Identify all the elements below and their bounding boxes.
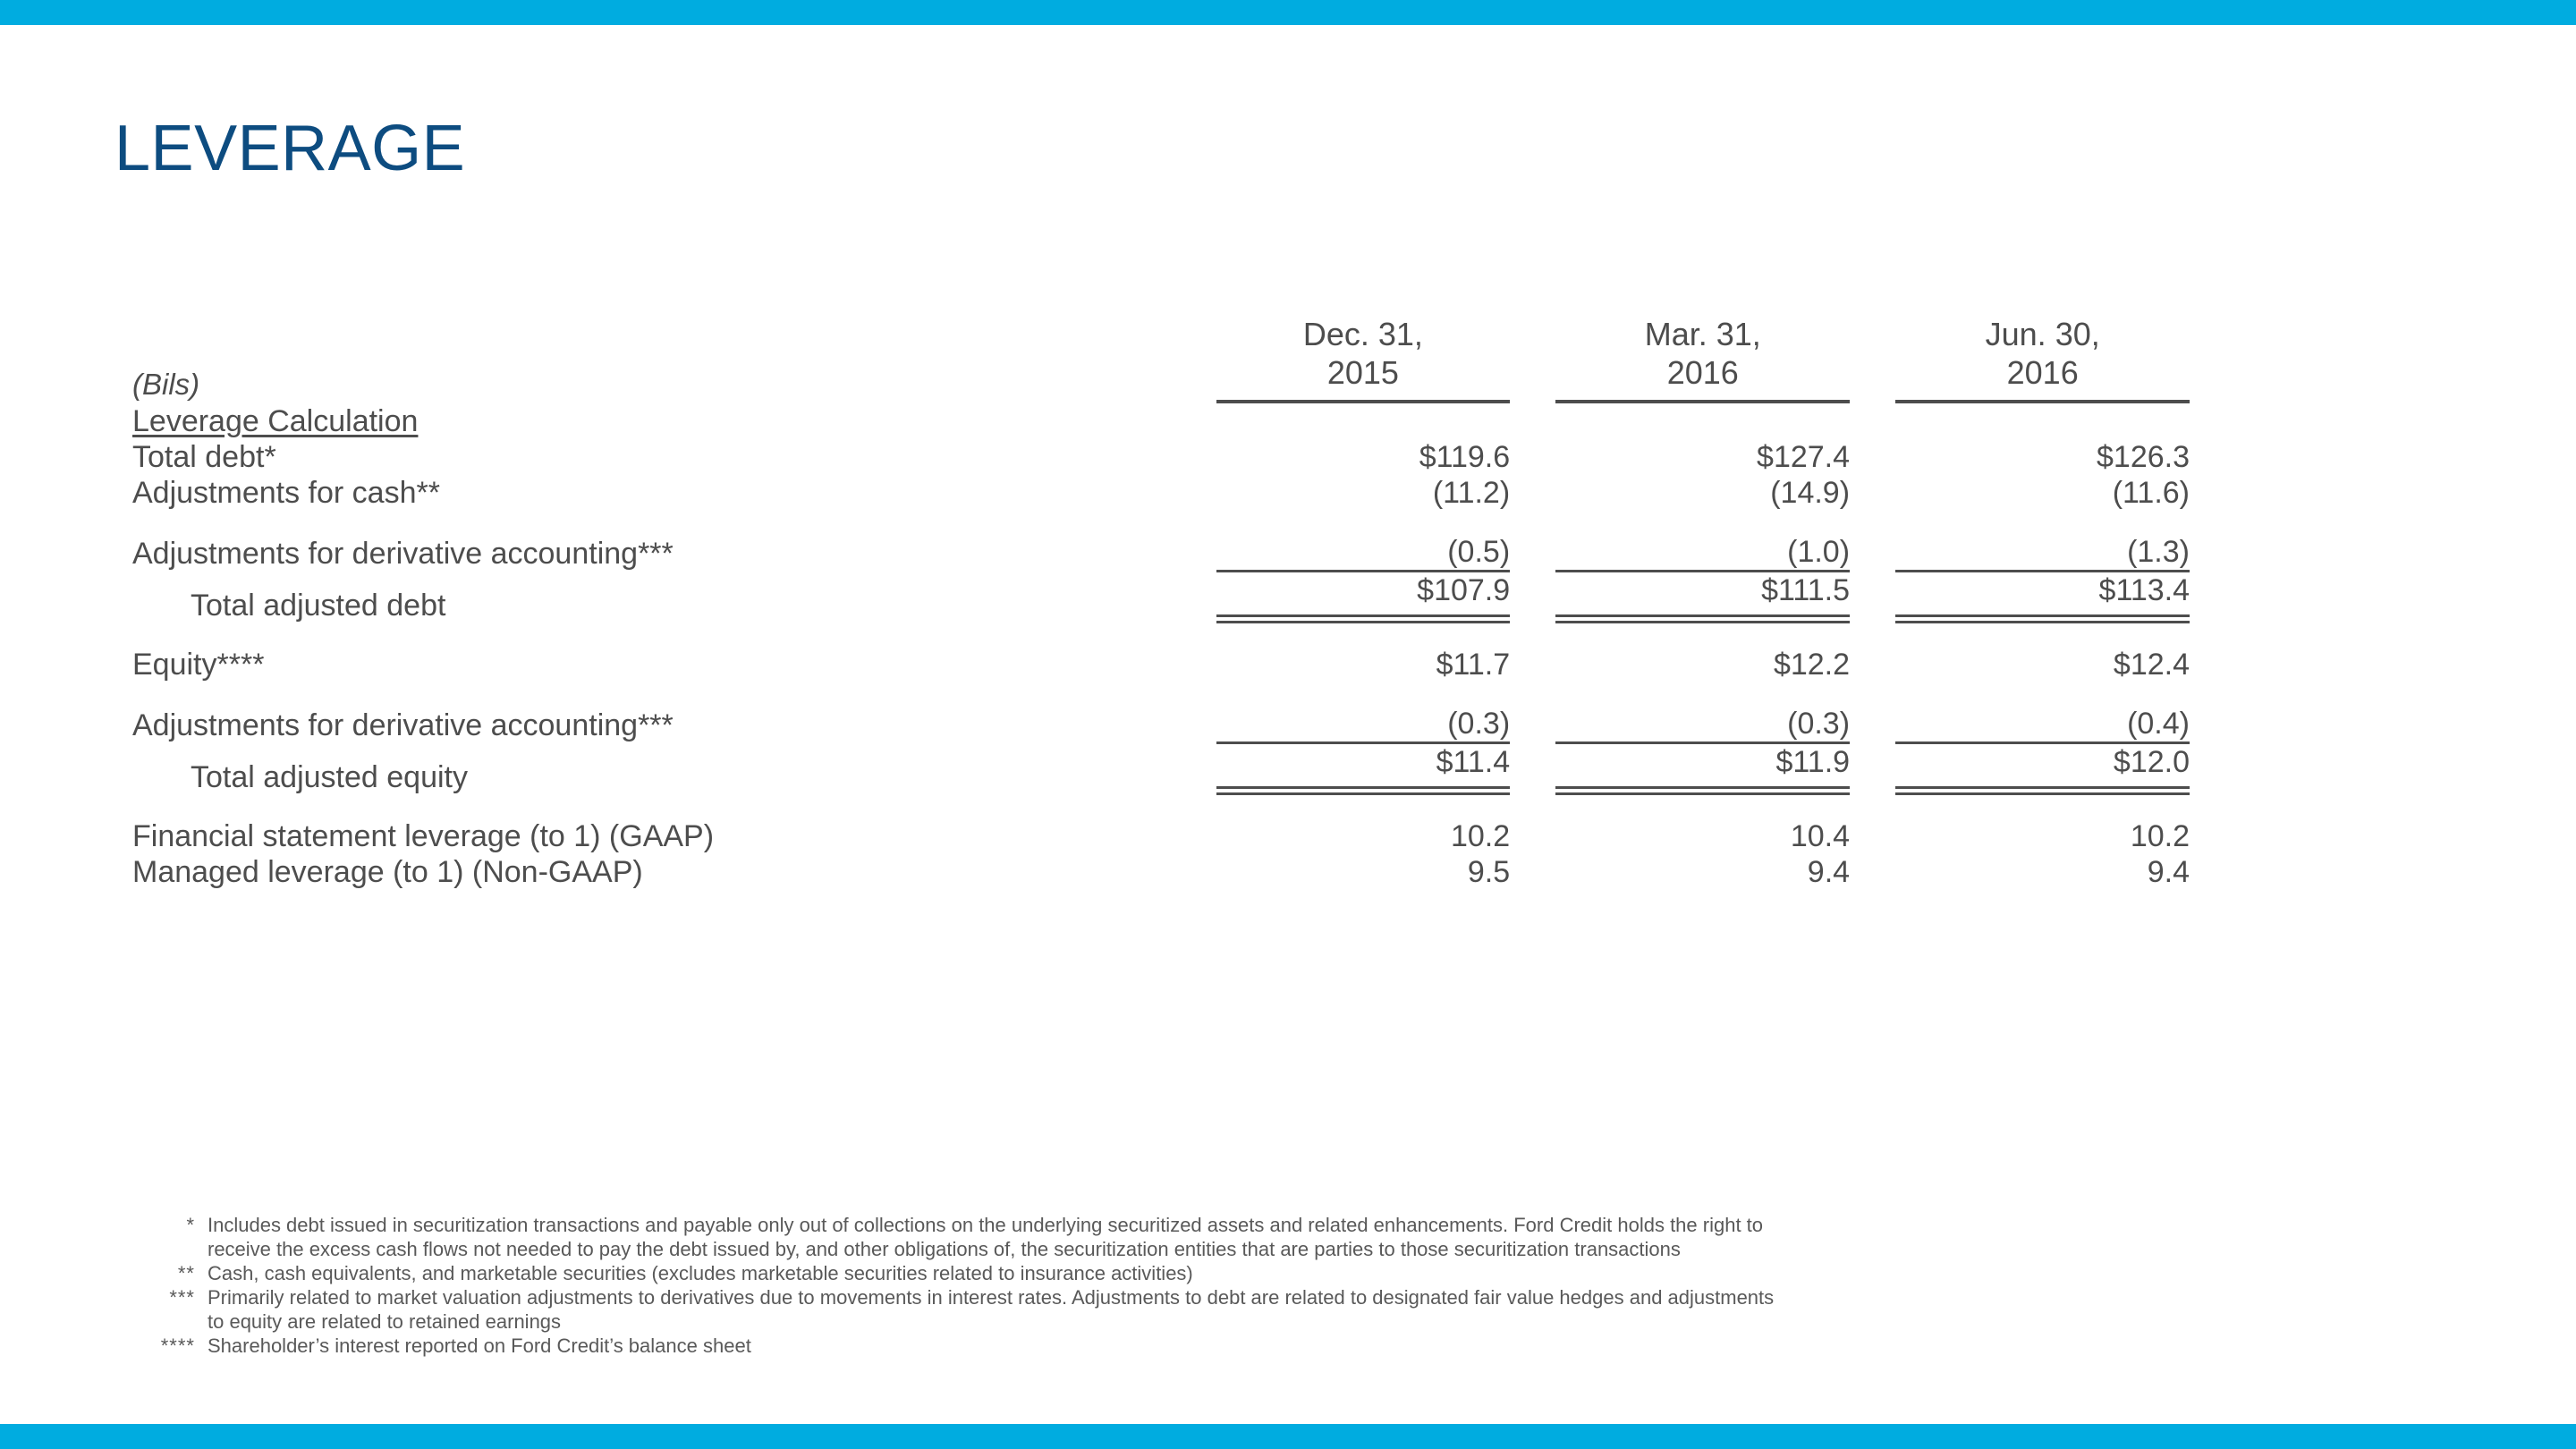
table-row: Adjustments for cash** (11.2) (14.9) (11…	[132, 475, 2190, 511]
row-value-managed-leverage-1: 9.4	[1555, 854, 1850, 890]
footnote-1-marker: *	[114, 1213, 208, 1237]
cell-gap	[1850, 475, 1895, 511]
row-value-total-adjusted-debt-0: $107.9	[1216, 572, 1511, 624]
row-value-equity-1: $12.2	[1555, 623, 1850, 682]
subtotal-value: $111.5	[1761, 573, 1850, 607]
row-value-total-adjusted-equity-0: $11.4	[1216, 743, 1511, 796]
row-label-total-debt: Total debt*	[132, 439, 1216, 475]
row-value-adjustments-derivative-debt-2: (1.3)	[1895, 511, 2190, 572]
cell-gap	[1510, 682, 1555, 743]
row-value-adjustments-derivative-equity-2: (0.4)	[1895, 682, 2190, 743]
units-label: (Bils)	[132, 315, 1216, 403]
double-rule	[1895, 614, 2190, 623]
cell-gap	[1510, 475, 1555, 511]
footnote-2-text: Cash, cash equivalents, and marketable s…	[208, 1261, 2547, 1285]
cell-gap	[1510, 511, 1555, 572]
footnote-3-continuation: to equity are related to retained earnin…	[114, 1309, 2547, 1334]
row-label-adjustments-cash: Adjustments for cash**	[132, 475, 1216, 511]
leverage-table: (Bils) Dec. 31, 2015 Mar. 31, 2016 Jun. …	[132, 315, 2190, 890]
row-value-equity-0: $11.7	[1216, 623, 1511, 682]
footnotes: * Includes debt issued in securitization…	[114, 1213, 2547, 1358]
column-header-1-line2: 2016	[1667, 354, 1739, 391]
table-header-row: (Bils) Dec. 31, 2015 Mar. 31, 2016 Jun. …	[132, 315, 2190, 403]
header-gap-0	[1510, 315, 1555, 403]
cell-gap	[1510, 623, 1555, 682]
row-label-total-adjusted-equity: Total adjusted equity	[132, 743, 1216, 796]
row-label-adjustments-derivative-debt: Adjustments for derivative accounting***	[132, 511, 1216, 572]
cell-gap	[1850, 511, 1895, 572]
row-value-total-debt-2: $126.3	[1895, 439, 2190, 475]
cell-gap	[1850, 795, 1895, 854]
column-header-2-line2: 2016	[2007, 354, 2079, 391]
double-rule	[1895, 786, 2190, 795]
double-rule	[1216, 786, 1511, 795]
table-row: Managed leverage (to 1) (Non-GAAP) 9.5 9…	[132, 854, 2190, 890]
cell-gap	[1850, 572, 1895, 624]
double-rule	[1555, 614, 1850, 623]
column-header-2: Jun. 30, 2016	[1895, 315, 2190, 403]
footnote-3-marker: ***	[114, 1285, 208, 1309]
row-value-total-adjusted-equity-2: $12.0	[1895, 743, 2190, 796]
header-gap-1	[1850, 315, 1895, 403]
cell-gap	[1850, 854, 1895, 890]
footnote-1-text: Includes debt issued in securitization t…	[208, 1213, 2547, 1237]
row-value-financial-statement-leverage-2: 10.2	[1895, 795, 2190, 854]
cell-gap	[1510, 572, 1555, 624]
double-rule	[1216, 614, 1511, 623]
footnote-2-marker: **	[114, 1261, 208, 1285]
table-row: Adjustments for derivative accounting***…	[132, 511, 2190, 572]
footnote-3-text: Primarily related to market valuation ad…	[208, 1285, 2547, 1309]
row-value-adjustments-derivative-debt-1: (1.0)	[1555, 511, 1850, 572]
bottom-accent-bar	[0, 1424, 2576, 1449]
row-value-equity-2: $12.4	[1895, 623, 2190, 682]
row-value-total-debt-0: $119.6	[1216, 439, 1511, 475]
page-title: LEVERAGE	[114, 113, 465, 184]
cell-gap	[1850, 743, 1895, 796]
row-value-managed-leverage-0: 9.5	[1216, 854, 1511, 890]
subtotal-value: $12.0	[2114, 745, 2190, 779]
subtotal-value: $11.4	[1436, 745, 1511, 779]
footnote-4-text: Shareholder’s interest reported on Ford …	[208, 1334, 2547, 1358]
row-label-total-adjusted-debt: Total adjusted debt	[132, 572, 1216, 624]
column-header-0-line1: Dec. 31,	[1303, 316, 1423, 352]
footnote-1-continuation: receive the excess cash flows not needed…	[114, 1237, 2547, 1261]
cell-gap	[1850, 682, 1895, 743]
cell-gap	[1510, 795, 1555, 854]
subtotal-value: $11.9	[1775, 745, 1850, 779]
table-row: Total debt* $119.6 $127.4 $126.3	[132, 439, 2190, 475]
column-header-0-line2: 2015	[1327, 354, 1399, 391]
column-header-0: Dec. 31, 2015	[1216, 315, 1511, 403]
row-value-total-debt-1: $127.4	[1555, 439, 1850, 475]
row-value-total-adjusted-equity-1: $11.9	[1555, 743, 1850, 796]
subtotal-value: $107.9	[1417, 573, 1510, 607]
table-row: Financial statement leverage (to 1) (GAA…	[132, 795, 2190, 854]
row-label-managed-leverage: Managed leverage (to 1) (Non-GAAP)	[132, 854, 1216, 890]
cell-gap	[1510, 439, 1555, 475]
row-label-equity: Equity****	[132, 623, 1216, 682]
cell-gap	[1510, 854, 1555, 890]
section-heading-spacer	[1216, 403, 2190, 439]
footnote-2: ** Cash, cash equivalents, and marketabl…	[114, 1261, 2547, 1285]
column-header-1: Mar. 31, 2016	[1555, 315, 1850, 403]
subtotal-value: $113.4	[2099, 573, 2190, 607]
table-section-heading-row: Leverage Calculation	[132, 403, 2190, 439]
top-accent-bar	[0, 0, 2576, 25]
row-value-adjustments-cash-2: (11.6)	[1895, 475, 2190, 511]
double-rule	[1555, 786, 1850, 795]
row-value-financial-statement-leverage-1: 10.4	[1555, 795, 1850, 854]
row-label-financial-statement-leverage: Financial statement leverage (to 1) (GAA…	[132, 795, 1216, 854]
row-label-adjustments-derivative-equity: Adjustments for derivative accounting***	[132, 682, 1216, 743]
table-row: Equity**** $11.7 $12.2 $12.4	[132, 623, 2190, 682]
footnote-3: *** Primarily related to market valuatio…	[114, 1285, 2547, 1309]
footnote-4-marker: ****	[114, 1334, 208, 1358]
table-subtotal-row: Total adjusted equity $11.4 $11.9 $12.0	[132, 743, 2190, 796]
row-value-adjustments-cash-1: (14.9)	[1555, 475, 1850, 511]
row-value-financial-statement-leverage-0: 10.2	[1216, 795, 1511, 854]
column-header-1-line1: Mar. 31,	[1645, 316, 1761, 352]
cell-gap	[1850, 623, 1895, 682]
cell-gap	[1510, 743, 1555, 796]
row-value-total-adjusted-debt-1: $111.5	[1555, 572, 1850, 624]
table-row: Adjustments for derivative accounting***…	[132, 682, 2190, 743]
row-value-adjustments-derivative-debt-0: (0.5)	[1216, 511, 1511, 572]
column-header-2-line1: Jun. 30,	[1986, 316, 2100, 352]
row-value-adjustments-derivative-equity-0: (0.3)	[1216, 682, 1511, 743]
row-value-adjustments-cash-0: (11.2)	[1216, 475, 1511, 511]
row-value-total-adjusted-debt-2: $113.4	[1895, 572, 2190, 624]
cell-gap	[1850, 439, 1895, 475]
footnote-1: * Includes debt issued in securitization…	[114, 1213, 2547, 1237]
row-value-managed-leverage-2: 9.4	[1895, 854, 2190, 890]
section-heading: Leverage Calculation	[132, 403, 1216, 439]
footnote-4: **** Shareholder’s interest reported on …	[114, 1334, 2547, 1358]
table-subtotal-row: Total adjusted debt $107.9 $111.5 $113.4	[132, 572, 2190, 624]
row-value-adjustments-derivative-equity-1: (0.3)	[1555, 682, 1850, 743]
